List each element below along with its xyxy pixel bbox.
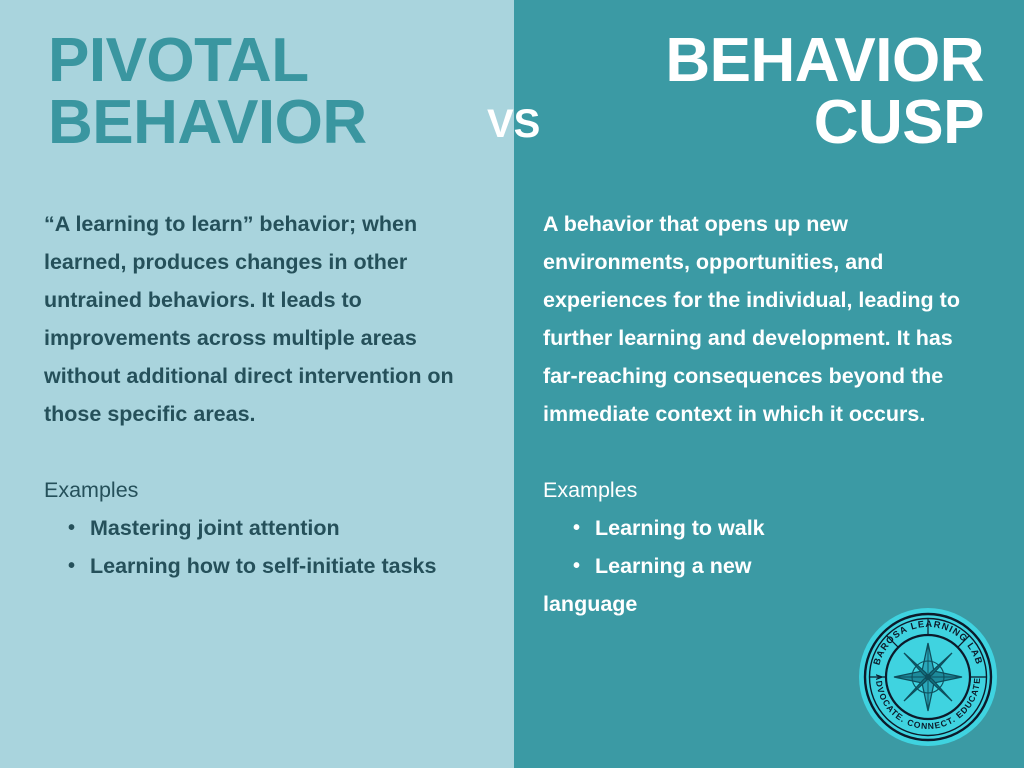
right-definition: A behavior that opens up new environment…	[543, 205, 968, 433]
left-content-column: “A learning to learn” behavior; when lea…	[44, 205, 469, 585]
versus-label: VS	[487, 104, 540, 144]
list-item: Learning to walk	[543, 509, 968, 547]
right-examples-heading: Examples	[543, 471, 968, 509]
list-item: Learning how to self-initiate tasks	[44, 547, 469, 585]
left-examples-list: Mastering joint attention Learning how t…	[44, 509, 469, 585]
barosa-learning-lab-logo: BAROSA LEARNING LAB ADVOCATE. CONNECT. E…	[858, 607, 998, 747]
compass-rose-icon	[894, 643, 962, 711]
list-item: Learning a new	[543, 547, 968, 585]
right-title: BEHAVIOR CUSP	[560, 30, 984, 154]
left-definition: “A learning to learn” behavior; when lea…	[44, 205, 469, 433]
infographic-canvas: PIVOTAL BEHAVIOR BEHAVIOR CUSP VS “A lea…	[0, 0, 1024, 768]
right-examples-list: Learning to walk Learning a new	[543, 509, 968, 585]
list-item: Mastering joint attention	[44, 509, 469, 547]
left-examples-heading: Examples	[44, 471, 469, 509]
right-content-column: A behavior that opens up new environment…	[543, 205, 968, 623]
left-title: PIVOTAL BEHAVIOR	[48, 30, 468, 154]
